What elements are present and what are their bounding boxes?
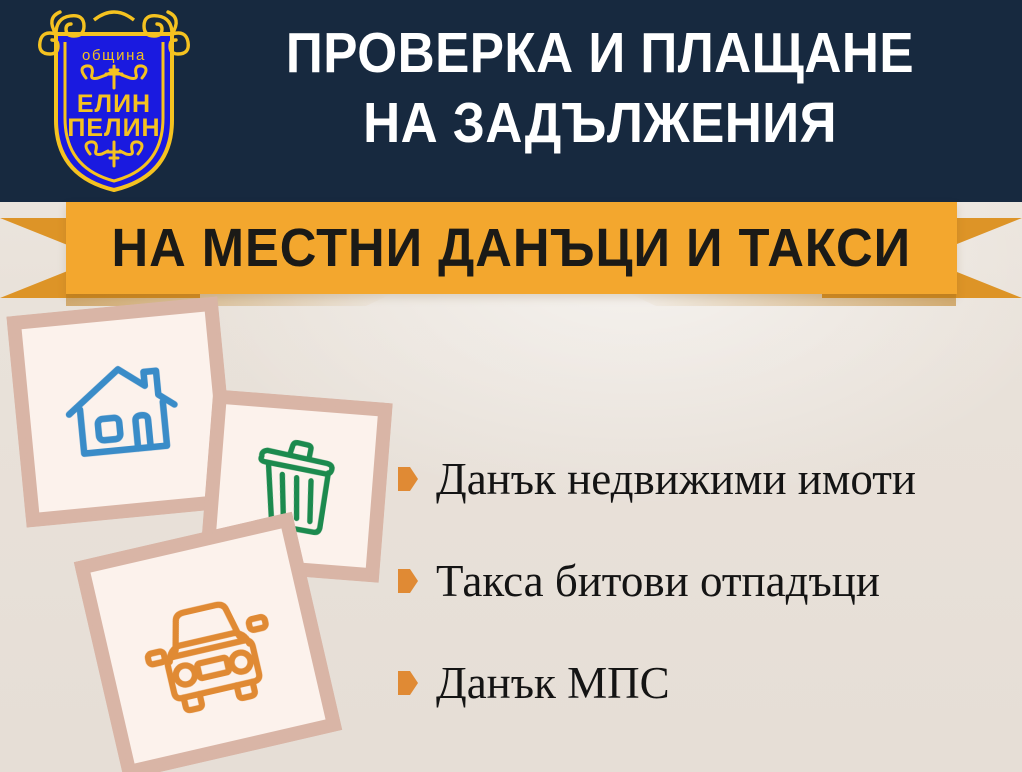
list-item-label: Данък недвижими имоти	[436, 454, 916, 504]
page-title-line-1: ПРОВЕРКА И ПЛАЩАНЕ	[286, 21, 914, 85]
list-item[interactable]: Данък недвижими имоти	[398, 428, 1008, 530]
car-front-icon	[126, 564, 289, 727]
stamp-card-property	[6, 296, 237, 527]
list-item[interactable]: Данък МПС	[398, 632, 1008, 734]
stamp-paper	[22, 312, 223, 513]
stamp-paper	[90, 528, 325, 763]
poster-canvas: община ЕЛИН ПЕЛИН ПРОВЕРКА И ПЛАЩАНЕ НА …	[0, 0, 1022, 772]
page-title: ПРОВЕРКА И ПЛАЩАНЕ НА ЗАДЪЛЖЕНИЯ	[231, 18, 969, 158]
ribbon-label: НА МЕСТНИ ДАНЪЦИ И ТАКСИ	[112, 221, 912, 275]
crest-top-label: община	[82, 47, 146, 64]
list-item[interactable]: Такса битови отпадъци	[398, 530, 1008, 632]
arrow-bullet-icon	[398, 569, 418, 593]
arrow-bullet-icon	[398, 671, 418, 695]
tax-type-list: Данък недвижими имоти Такса битови отпад…	[398, 428, 1008, 734]
house-icon	[53, 343, 190, 480]
list-item-label: Данък МПС	[436, 658, 670, 708]
list-item-label: Такса битови отпадъци	[436, 556, 880, 606]
arrow-bullet-icon	[398, 467, 418, 491]
ribbon-fold-shadow-right	[626, 292, 956, 306]
ribbon-fold-shadow-left	[66, 292, 396, 306]
subtitle-ribbon: НА МЕСТНИ ДАНЪЦИ И ТАКСИ	[0, 196, 1022, 312]
ribbon-banner: НА МЕСТНИ ДАНЪЦИ И ТАКСИ	[66, 202, 957, 294]
municipality-crest-logo: община ЕЛИН ПЕЛИН	[34, 8, 194, 194]
page-title-line-2: НА ЗАДЪЛЖЕНИЯ	[231, 88, 969, 158]
crest-name-line2: ПЕЛИН	[67, 114, 160, 142]
